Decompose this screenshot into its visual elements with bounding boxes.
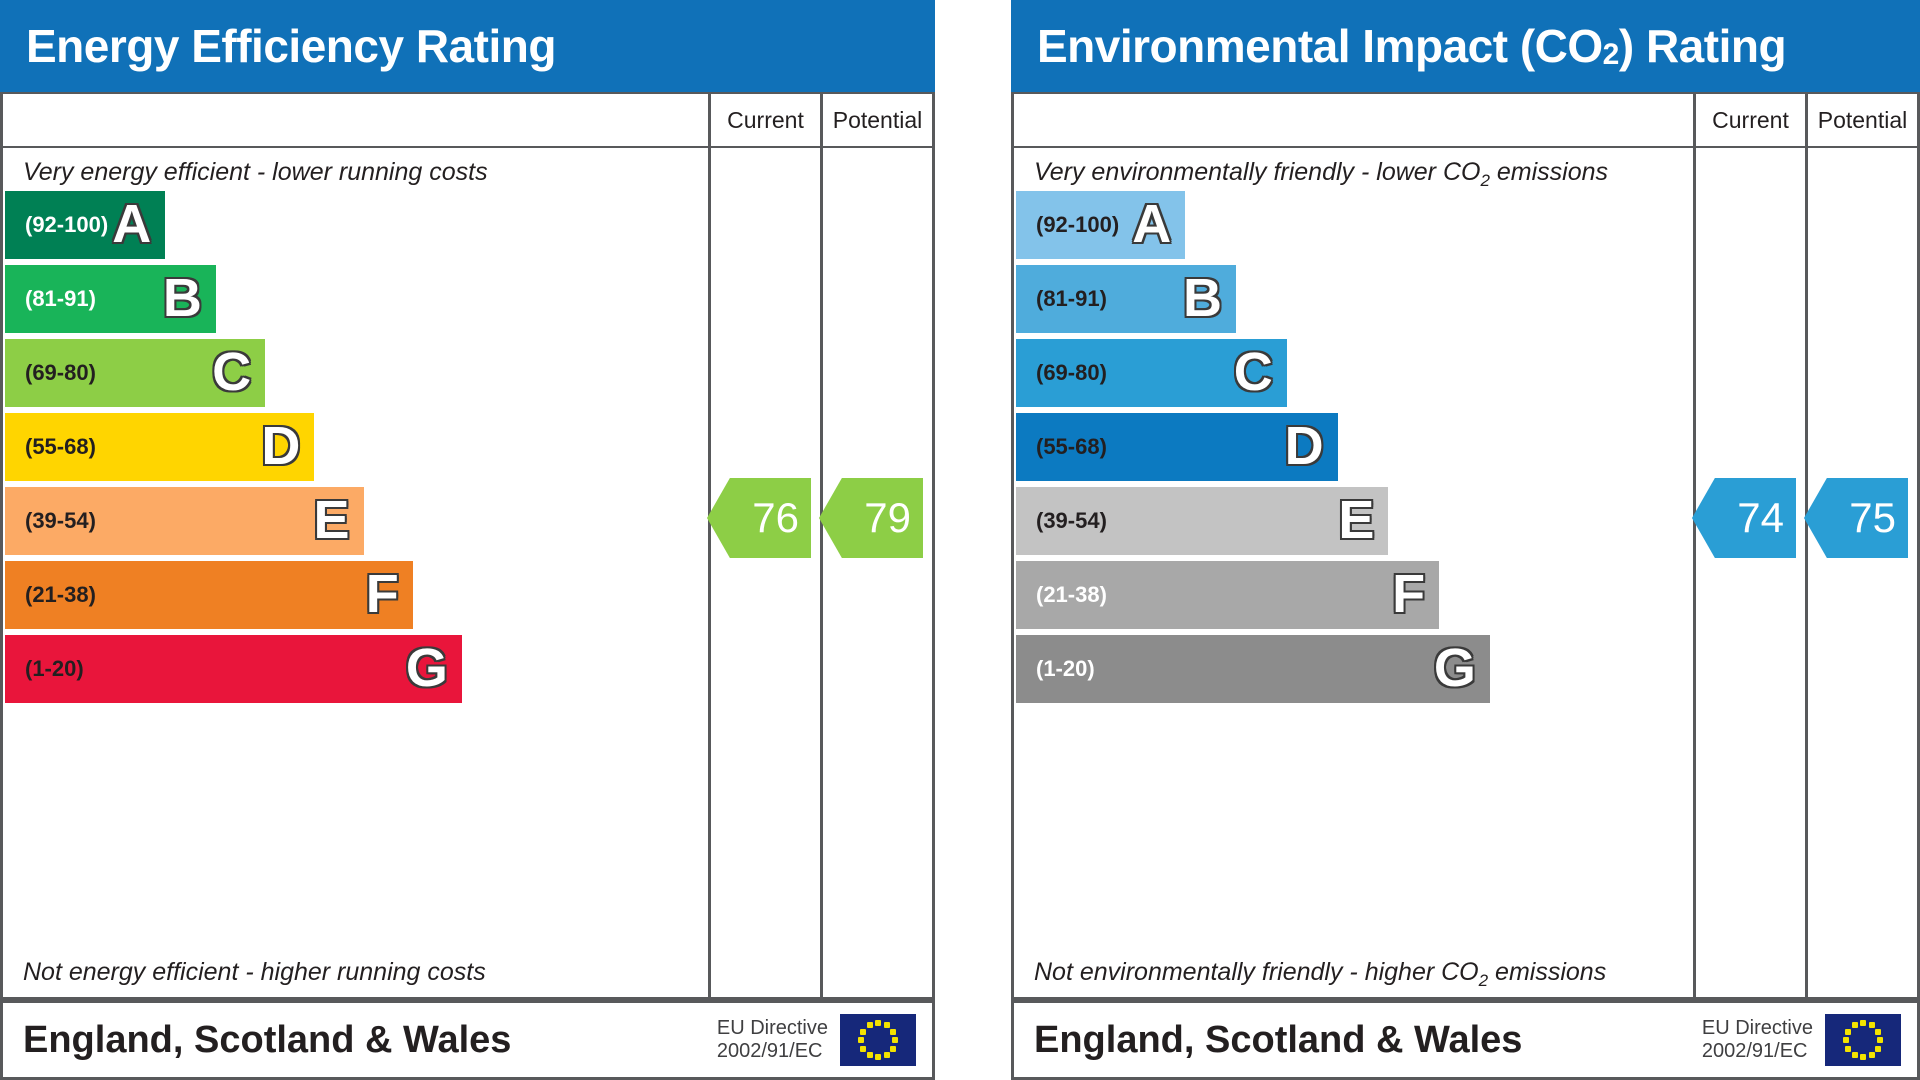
eu-flag-icon [1825, 1014, 1901, 1066]
flag-star [867, 1022, 873, 1028]
band-G: (1-20)G [5, 635, 462, 703]
current-rating-arrow: 74 [1692, 478, 1796, 558]
flag-star [1860, 1020, 1866, 1026]
bands-column: Very energy efficient - lower running co… [3, 148, 708, 997]
current-column: 74 [1693, 148, 1805, 997]
flag-star [1860, 1054, 1866, 1060]
directive-line-2: 2002/91/EC [717, 1040, 828, 1063]
flag-star [875, 1054, 881, 1060]
chart-footer-energy-efficiency: England, Scotland & WalesEU Directive200… [0, 1000, 935, 1080]
band-E: (39-54)E [5, 487, 364, 555]
band-F: (21-38)F [5, 561, 413, 629]
band-letter-E: E [313, 493, 349, 547]
band-range-D: (55-68) [1016, 434, 1107, 460]
band-letter-C: C [1234, 345, 1273, 399]
band-letter-A: A [112, 197, 151, 251]
flag-star [1843, 1037, 1849, 1043]
band-range-B: (81-91) [1016, 286, 1107, 312]
chart-body-energy-efficiency: CurrentPotentialVery energy efficient - … [0, 92, 935, 1000]
band-range-D: (55-68) [5, 434, 96, 460]
bands-list: (92-100)A(81-91)B(69-80)C(55-68)D(39-54)… [3, 191, 708, 952]
caption-subscript: 2 [1480, 171, 1489, 190]
band-range-E: (39-54) [5, 508, 96, 534]
chart-footer-environmental-impact: England, Scotland & WalesEU Directive200… [1011, 1000, 1920, 1080]
band-B: (81-91)B [5, 265, 216, 333]
band-G: (1-20)G [1016, 635, 1490, 703]
band-range-C: (69-80) [1016, 360, 1107, 386]
band-A: (92-100)A [1016, 191, 1185, 259]
band-range-E: (39-54) [1016, 508, 1107, 534]
footer-country-label: England, Scotland & Wales [3, 1019, 717, 1062]
band-letter-F: F [1392, 567, 1425, 621]
band-letter-B: B [163, 271, 202, 325]
flag-star [1845, 1046, 1851, 1052]
bands-list: (92-100)A(81-91)B(69-80)C(55-68)D(39-54)… [1014, 191, 1693, 952]
caption-bottom: Not environmentally friendly - higher CO… [1014, 952, 1693, 997]
epc-charts-page: Energy Efficiency RatingCurrentPotential… [0, 0, 1920, 1080]
column-header-current: Current [708, 94, 820, 146]
caption-subscript: 2 [1479, 971, 1488, 990]
flag-star [1875, 1046, 1881, 1052]
title-subscript: 2 [1603, 38, 1619, 72]
flag-star [860, 1029, 866, 1035]
flag-star [1845, 1029, 1851, 1035]
directive-line-2: 2002/91/EC [1702, 1040, 1813, 1063]
epc-chart-environmental-impact: Environmental Impact (CO2) RatingCurrent… [1011, 0, 1920, 1080]
band-D: (55-68)D [1016, 413, 1338, 481]
flag-star [1869, 1052, 1875, 1058]
directive-line-1: EU Directive [717, 1017, 828, 1040]
column-header-row: CurrentPotential [3, 94, 932, 148]
flag-star [860, 1046, 866, 1052]
band-letter-E: E [1338, 493, 1374, 547]
band-F: (21-38)F [1016, 561, 1439, 629]
caption-bottom: Not energy efficient - higher running co… [3, 952, 708, 997]
current-rating-arrow: 76 [707, 478, 811, 558]
band-range-G: (1-20) [1016, 656, 1095, 682]
column-header-potential: Potential [1805, 94, 1917, 146]
epc-chart-energy-efficiency: Energy Efficiency RatingCurrentPotential… [0, 0, 935, 1080]
footer-country-label: England, Scotland & Wales [1014, 1019, 1702, 1062]
band-C: (69-80)C [5, 339, 265, 407]
band-range-F: (21-38) [1016, 582, 1107, 608]
flag-star [890, 1046, 896, 1052]
band-E: (39-54)E [1016, 487, 1388, 555]
band-letter-B: B [1183, 271, 1222, 325]
potential-column: 79 [820, 148, 932, 997]
bands-column: Very environmentally friendly - lower CO… [1014, 148, 1693, 997]
caption-top: Very energy efficient - lower running co… [3, 148, 708, 191]
current-column: 76 [708, 148, 820, 997]
plot-row: Very energy efficient - lower running co… [3, 148, 932, 997]
potential-column: 75 [1805, 148, 1917, 997]
flag-star [1852, 1052, 1858, 1058]
column-header-current: Current [1693, 94, 1805, 146]
footer-directive-label: EU Directive2002/91/EC [717, 1017, 840, 1063]
band-letter-G: G [406, 641, 448, 695]
band-letter-F: F [366, 567, 399, 621]
chart-body-environmental-impact: CurrentPotentialVery environmentally fri… [1011, 92, 1920, 1000]
band-A: (92-100)A [5, 191, 165, 259]
column-header-potential: Potential [820, 94, 932, 146]
band-letter-A: A [1132, 197, 1171, 251]
band-letter-G: G [1434, 641, 1476, 695]
flag-star [1875, 1029, 1881, 1035]
flag-star [1852, 1022, 1858, 1028]
flag-star [1877, 1037, 1883, 1043]
band-C: (69-80)C [1016, 339, 1287, 407]
header-spacer [1014, 94, 1693, 146]
flag-star [884, 1022, 890, 1028]
eu-flag-icon [840, 1014, 916, 1066]
potential-rating-arrow: 75 [1804, 478, 1908, 558]
band-range-C: (69-80) [5, 360, 96, 386]
header-spacer [3, 94, 708, 146]
flag-star [867, 1052, 873, 1058]
flag-star [875, 1020, 881, 1026]
band-letter-C: C [212, 345, 251, 399]
flag-star [892, 1037, 898, 1043]
potential-rating-arrow: 79 [819, 478, 923, 558]
flag-star [858, 1037, 864, 1043]
flag-star [1869, 1022, 1875, 1028]
band-range-G: (1-20) [5, 656, 84, 682]
band-letter-D: D [1285, 419, 1324, 473]
directive-line-1: EU Directive [1702, 1017, 1813, 1040]
band-range-A: (92-100) [1016, 212, 1119, 238]
band-D: (55-68)D [5, 413, 314, 481]
flag-star [890, 1029, 896, 1035]
footer-directive-label: EU Directive2002/91/EC [1702, 1017, 1825, 1063]
band-range-B: (81-91) [5, 286, 96, 312]
band-range-F: (21-38) [5, 582, 96, 608]
band-letter-D: D [261, 419, 300, 473]
caption-top: Very environmentally friendly - lower CO… [1014, 148, 1693, 191]
chart-title-environmental-impact: Environmental Impact (CO2) Rating [1011, 0, 1920, 92]
band-B: (81-91)B [1016, 265, 1236, 333]
chart-title-energy-efficiency: Energy Efficiency Rating [0, 0, 935, 92]
plot-row: Very environmentally friendly - lower CO… [1014, 148, 1917, 997]
flag-star [884, 1052, 890, 1058]
column-header-row: CurrentPotential [1014, 94, 1917, 148]
band-range-A: (92-100) [5, 212, 108, 238]
